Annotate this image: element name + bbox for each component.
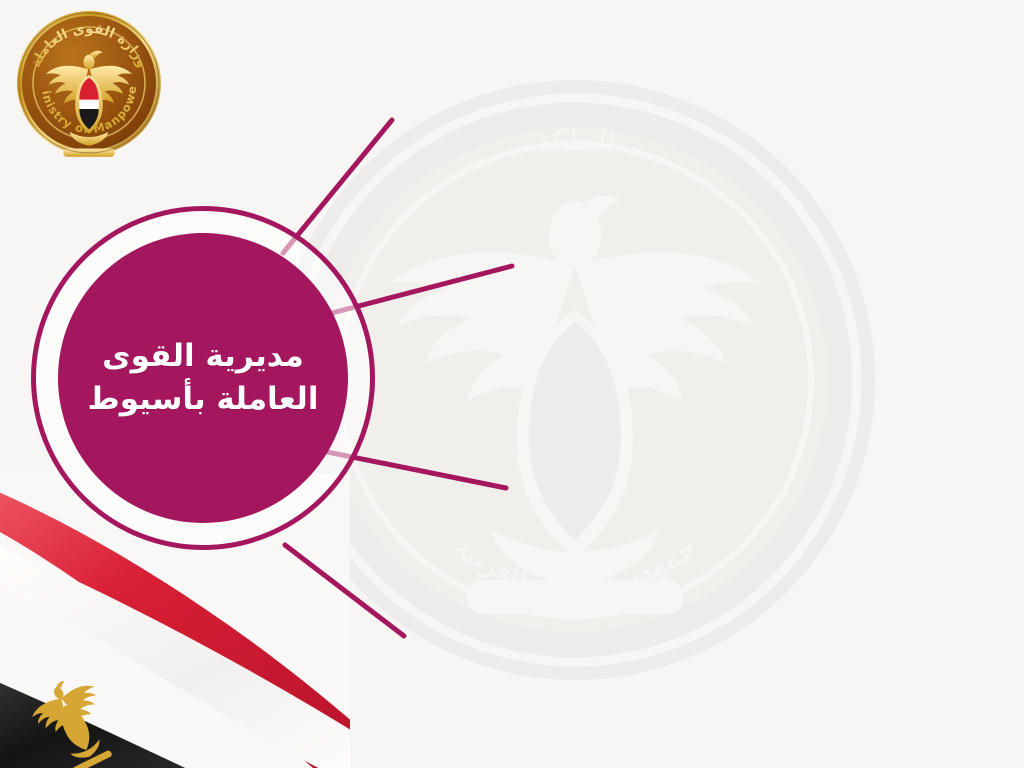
svg-text:جمهورية مصر العربية: جمهورية مصر العربية [447, 530, 703, 601]
svg-text:الملكه: الملكه [533, 123, 618, 161]
infographic-canvas: الملكه جمهورية مصر العربية [0, 0, 1024, 768]
hub-core: مديرية القوى العاملة بأسيوط [58, 233, 348, 523]
central-hub: مديرية القوى العاملة بأسيوط [31, 206, 375, 550]
ministry-of-manpower-logo: وزارة القوى العاملة Ministry of Manpower [14, 8, 164, 158]
hub-title: مديرية القوى العاملة بأسيوط [66, 335, 341, 421]
